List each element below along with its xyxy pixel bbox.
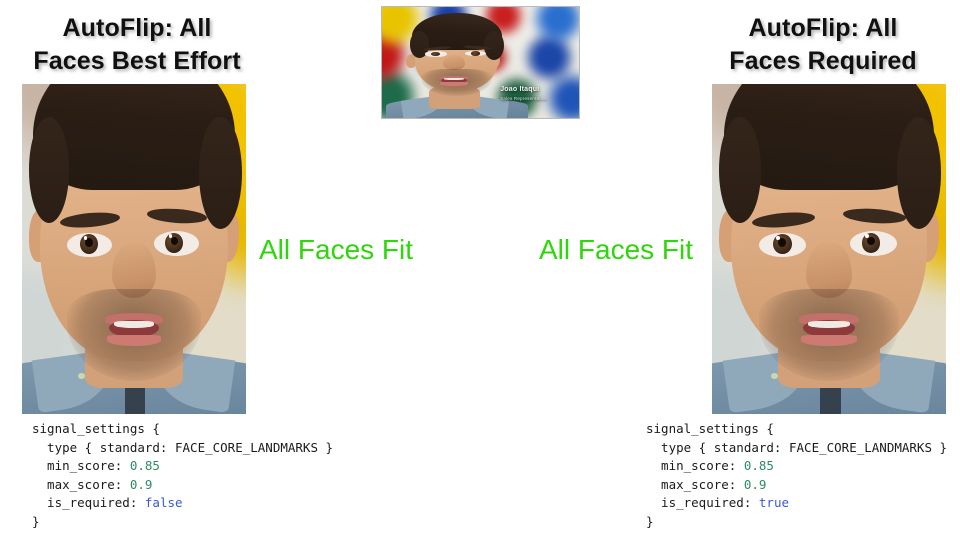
right-panel-title-line1: AutoFlip: All [692, 12, 954, 45]
code-line-3-key: min_score: [646, 458, 744, 473]
shirt-button [78, 373, 85, 380]
code-line-6: } [32, 514, 40, 529]
center-caption-role: Sales Representative [500, 96, 547, 101]
nose [443, 55, 465, 71]
left-panel-title-line2: Faces Best Effort [6, 45, 268, 78]
left-cropped-face-image [22, 84, 246, 414]
center-face-render: Joao Itaqui Sales Representative [382, 7, 579, 118]
code-line-2-key: type { standard: [646, 440, 789, 455]
lip-bottom [107, 335, 161, 346]
hair-side-left [719, 117, 761, 223]
center-source-video-thumbnail: Joao Itaqui Sales Representative [381, 6, 580, 119]
hair-side-right [199, 117, 242, 229]
left-signal-settings-code: signal_settings { type { standard: FACE_… [32, 420, 333, 532]
right-panel-title: AutoFlip: All Faces Required [692, 12, 954, 78]
right-cropped-face-image [712, 84, 946, 414]
shirt-button [771, 373, 778, 380]
lip-bottom [440, 82, 468, 85]
pupil-left [85, 238, 93, 247]
code-line-2-key: type { standard: [32, 440, 175, 455]
right-face-render [712, 84, 946, 414]
center-caption-name: Joao Itaqui [500, 86, 539, 93]
hair-side-right [897, 117, 941, 229]
teeth [114, 321, 154, 328]
left-face-render [22, 84, 246, 414]
lip-bottom [801, 335, 857, 346]
code-line-2-end: } [318, 440, 333, 455]
code-line-2-end: } [932, 440, 947, 455]
code-line-4-key: max_score: [32, 477, 130, 492]
right-face-shapes [712, 84, 946, 414]
code-line-5-value: true [759, 495, 789, 510]
code-line-4-value: 0.9 [130, 477, 153, 492]
code-line-3-value: 0.85 [130, 458, 160, 473]
right-signal-settings-code: signal_settings { type { standard: FACE_… [646, 420, 947, 532]
left-panel-title: AutoFlip: All Faces Best Effort [6, 12, 268, 78]
center-face-shapes [382, 7, 579, 118]
right-all-faces-fit-label: All Faces Fit [539, 234, 693, 266]
eye-glint-left [776, 236, 780, 240]
iris-right [471, 51, 480, 55]
eye-glint-left [84, 236, 88, 240]
code-line-3-key: min_score: [32, 458, 130, 473]
left-panel-title-line1: AutoFlip: All [6, 12, 268, 45]
code-line-1: signal_settings { [32, 421, 160, 436]
code-line-4-value: 0.9 [744, 477, 767, 492]
code-line-1: signal_settings { [646, 421, 774, 436]
code-line-5-value: false [145, 495, 183, 510]
code-line-5-key: is_required: [32, 495, 145, 510]
left-all-faces-fit-label: All Faces Fit [259, 234, 413, 266]
hair-side-right [484, 31, 504, 60]
code-line-4-key: max_score: [646, 477, 744, 492]
code-line-5-key: is_required: [646, 495, 759, 510]
teeth [808, 321, 850, 328]
hair-side-left [29, 117, 69, 223]
code-line-2-value: FACE_CORE_LANDMARKS [175, 440, 318, 455]
screenshot-root: AutoFlip: All Faces Best Effort [0, 0, 960, 540]
code-line-6: } [646, 514, 654, 529]
left-face-shapes [22, 84, 246, 414]
code-line-3-value: 0.85 [744, 458, 774, 473]
code-line-2-value: FACE_CORE_LANDMARKS [789, 440, 932, 455]
right-panel-title-line2: Faces Required [692, 45, 954, 78]
